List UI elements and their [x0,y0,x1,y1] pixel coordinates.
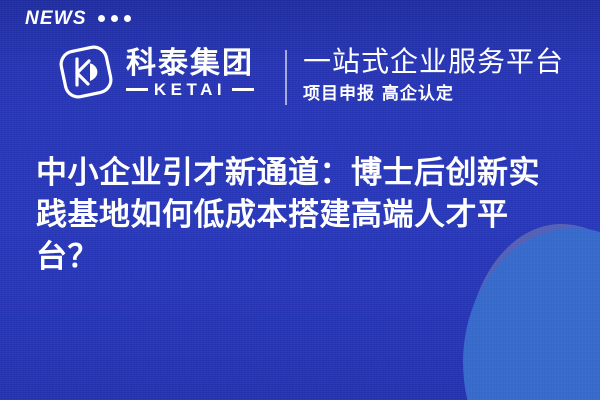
headline: 中小企业引才新通道：博士后创新实践基地如何低成本搭建高端人才平台？ [36,152,570,278]
news-banner: NEWS 科泰集团 KETAI [0,0,600,400]
eyebrow: NEWS [25,9,131,28]
brand-name-en: KETAI [154,81,226,98]
tagline-main: 一站式企业服务平台 [303,45,564,79]
eyebrow-dots-icon [98,15,131,22]
header-divider [285,50,287,105]
brand-name-en-row: KETAI [126,81,254,98]
tagline: 一站式企业服务平台 项目申报 高企认定 [303,45,564,104]
brand-name-cn: 科泰集团 [126,48,254,80]
brand-lockup: 科泰集团 KETAI [55,41,254,103]
ketai-logo-icon [55,41,117,103]
eyebrow-label: NEWS [25,9,87,28]
brand-rule-left [126,88,148,91]
brand-text: 科泰集团 KETAI [126,46,254,98]
tagline-sub: 项目申报 高企认定 [303,84,564,104]
brand-rule-right [232,88,254,91]
